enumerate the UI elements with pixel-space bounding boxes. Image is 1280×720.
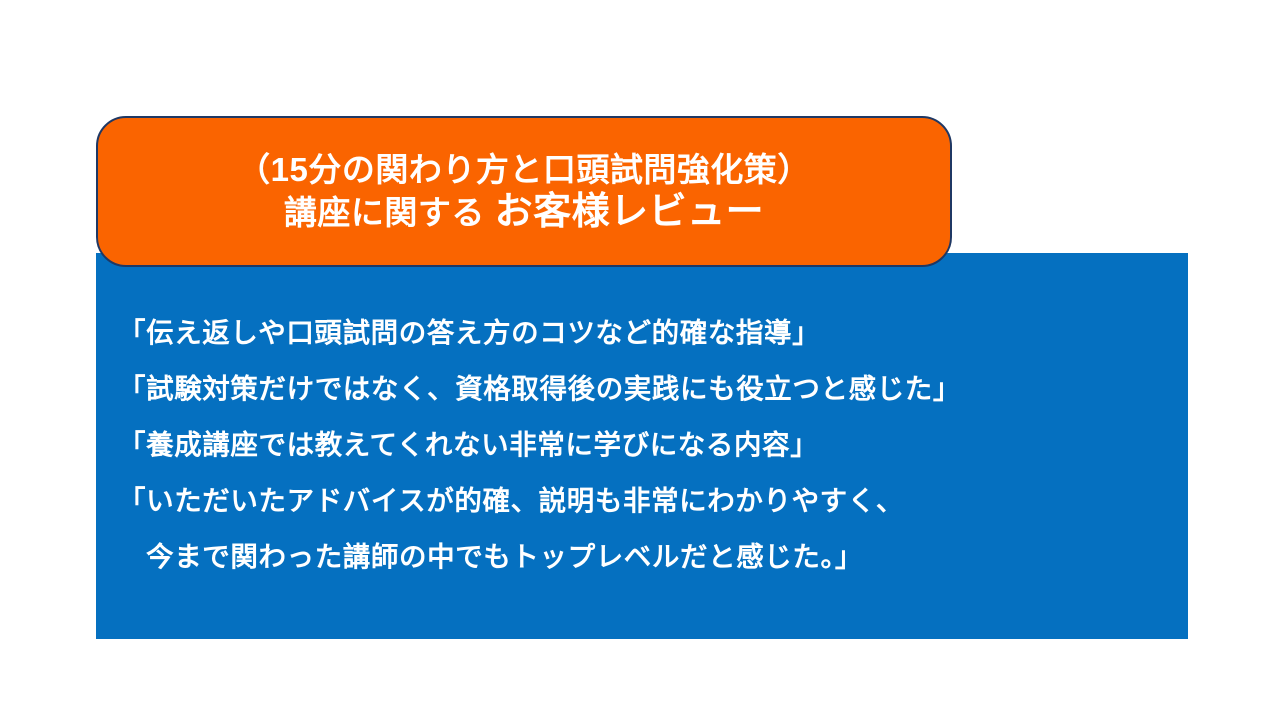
title-prefix: 講座に関する bbox=[284, 194, 495, 231]
review-line: 「いただいたアドバイスが的確、説明も非常にわかりやすく、 bbox=[118, 473, 1180, 529]
review-panel: 「伝え返しや口頭試問の答え方のコツなど的確な指導」 「試験対策だけではなく、資格… bbox=[96, 253, 1188, 639]
review-line: 「伝え返しや口頭試問の答え方のコツなど的確な指導」 bbox=[118, 305, 1180, 361]
review-line: 「試験対策だけではなく、資格取得後の実践にも役立つと感じた」 bbox=[118, 361, 1180, 417]
review-line: 「養成講座では教えてくれない非常に学びになる内容」 bbox=[118, 417, 1180, 473]
title-line-subject: （15分の関わり方と口頭試問強化策） bbox=[237, 151, 811, 190]
title-plate: （15分の関わり方と口頭試問強化策） 講座に関する お客様レビュー bbox=[96, 116, 952, 267]
review-list: 「伝え返しや口頭試問の答え方のコツなど的確な指導」 「試験対策だけではなく、資格… bbox=[118, 305, 1180, 585]
title-line-main: 講座に関する お客様レビュー bbox=[284, 190, 764, 235]
slide-canvas: 「伝え返しや口頭試問の答え方のコツなど的確な指導」 「試験対策だけではなく、資格… bbox=[0, 0, 1280, 720]
review-line: 今まで関わった講師の中でもトップレベルだと感じた。」 bbox=[118, 529, 1180, 585]
title-emphasis: お客様レビュー bbox=[495, 191, 765, 233]
